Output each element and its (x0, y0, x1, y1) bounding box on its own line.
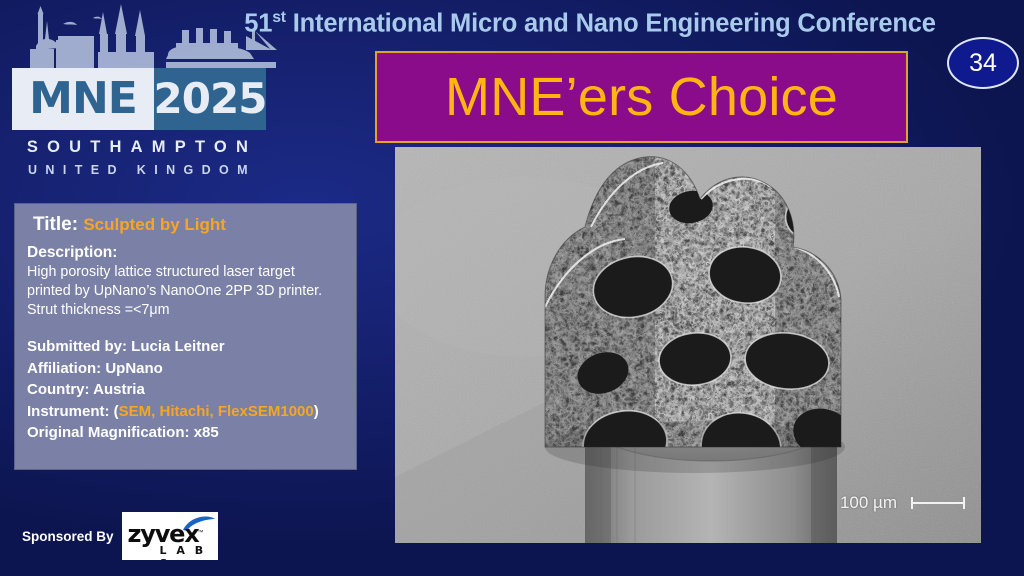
affiliation-value: UpNano (105, 360, 163, 377)
mne-conference-logo: MNE 2025 SOUTHAMPTON UNITED KINGDOM (8, 68, 270, 188)
sem-micrograph: 100 µm (395, 147, 981, 543)
mneers-choice-banner: MNE’ers Choice (375, 51, 908, 143)
description-line-3: Strut thickness =<7μm (27, 301, 346, 320)
logo-year: 2025 (154, 68, 266, 130)
description-line-2: printed by UpNano’s NanoOne 2PP 3D print… (27, 282, 346, 301)
sem-image-graphic (395, 147, 981, 543)
instrument-paren-close: ) (314, 403, 319, 420)
logo-country: UNITED KINGDOM (16, 163, 268, 177)
slide-number-badge: 34 (947, 37, 1019, 89)
sponsor-block: Sponsored By zyvex ™ L A B S (22, 512, 218, 560)
instrument-row: Instrument: (SEM, Hitachi, FlexSEM1000) (27, 401, 346, 423)
affiliation-row: Affiliation: UpNano (27, 358, 346, 380)
description-line-1: High porosity lattice structured laser t… (27, 263, 346, 282)
scale-bar-marker-icon (911, 497, 965, 509)
country-value: Austria (93, 381, 145, 398)
logo-mark: MNE (12, 68, 154, 130)
description-body: High porosity lattice structured laser t… (27, 263, 346, 320)
submission-info-panel: Title: Sculpted by Light Description: Hi… (14, 203, 357, 470)
logo-boxes: MNE 2025 (12, 68, 266, 130)
description-label: Description: (27, 244, 346, 262)
mneers-choice-label: MNE’ers Choice (445, 66, 838, 128)
zyvex-labs-logo: zyvex ™ L A B S (122, 512, 218, 560)
zyvex-trademark: ™ (198, 530, 204, 536)
magnification-label: Original Magnification: (27, 424, 190, 441)
conference-title-text: International Micro and Nano Engineering… (286, 10, 936, 38)
country-row: Country: Austria (27, 379, 346, 401)
affiliation-label: Affiliation: (27, 360, 101, 377)
magnification-row: Original Magnification: x85 (27, 422, 346, 444)
scale-bar-label: 100 µm (840, 493, 897, 513)
sponsored-by-label: Sponsored By (22, 529, 114, 544)
slide-number-value: 34 (969, 49, 997, 78)
magnification-value: x85 (194, 424, 219, 441)
instrument-value: SEM, Hitachi, FlexSEM1000 (119, 403, 314, 420)
submitted-by-value: Lucia Leitner (131, 338, 224, 355)
conference-title-number: 51 (244, 10, 272, 38)
entry-title-value: Sculpted by Light (83, 215, 226, 234)
zyvex-labs-subtitle: L A B S (160, 544, 218, 560)
entry-title-label: Title: (33, 214, 78, 235)
conference-title-ordinal: st (272, 9, 286, 26)
country-label: Country: (27, 381, 90, 398)
entry-title-row: Title: Sculpted by Light (33, 214, 346, 236)
submitted-by-row: Submitted by: Lucia Leitner (27, 336, 346, 358)
scale-bar: 100 µm (840, 493, 965, 513)
logo-city: SOUTHAMPTON (16, 138, 268, 157)
submitted-by-label: Submitted by: (27, 338, 127, 355)
conference-title: 51st International Micro and Nano Engine… (170, 2, 1010, 36)
submission-metadata: Submitted by: Lucia Leitner Affiliation:… (27, 336, 346, 444)
instrument-label: Instrument: (27, 403, 110, 420)
slide-root: 51st International Micro and Nano Engine… (0, 0, 1024, 576)
